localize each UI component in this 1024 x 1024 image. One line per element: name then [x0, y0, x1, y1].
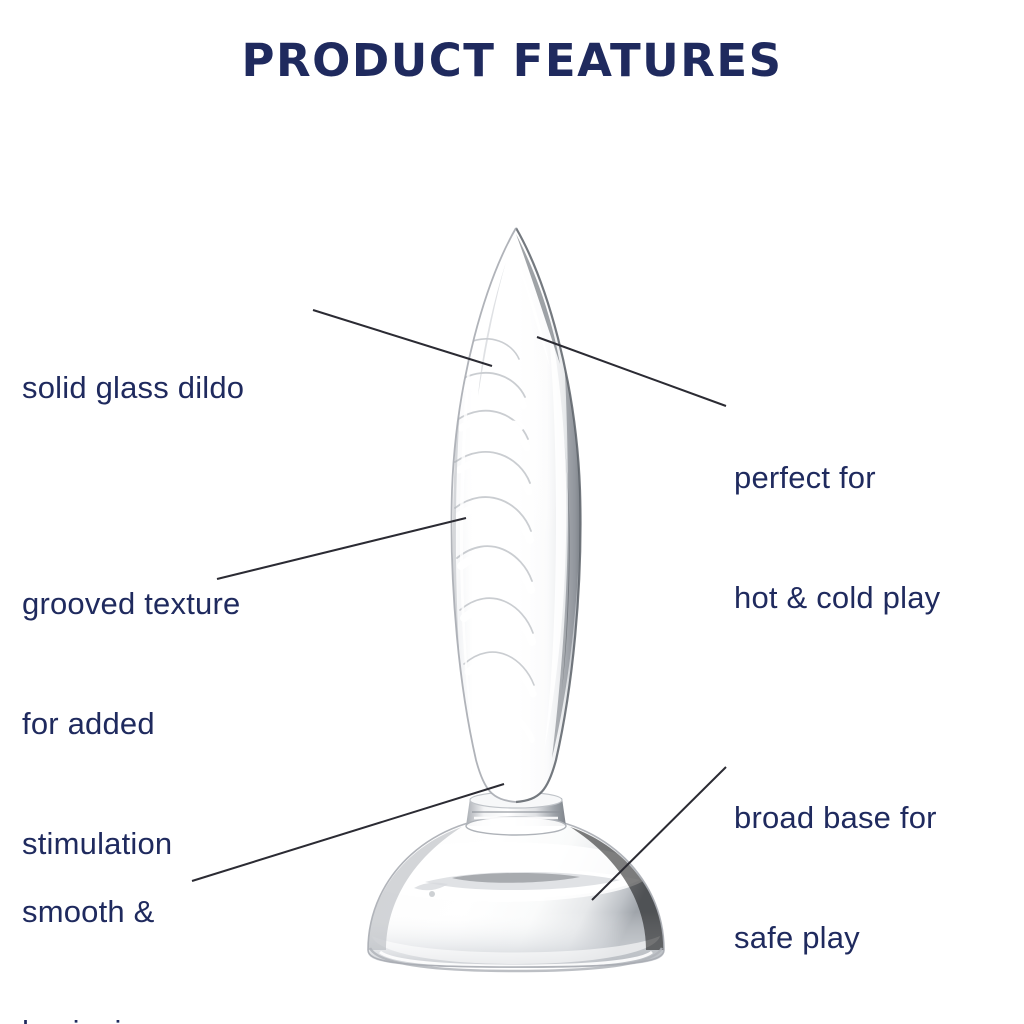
feature-label-hot-and-cold-play: perfect for hot & cold play — [734, 378, 940, 698]
product-shaft — [435, 228, 580, 802]
product-features-infographic: PRODUCT FEATURES — [0, 0, 1024, 1024]
feature-line: safe play — [734, 918, 937, 958]
feature-line: hygienic — [22, 1012, 263, 1024]
feature-line: broad base for — [734, 798, 937, 838]
feature-label-broad-base-safe-play: broad base for safe play — [734, 718, 937, 1024]
feature-line: smooth & — [22, 892, 263, 932]
feature-line: hot & cold play — [734, 578, 940, 618]
feature-line: grooved texture — [22, 584, 240, 624]
feature-line: solid glass dildo — [22, 368, 244, 408]
feature-label-smooth-hygienic-borosilicate-glass: smooth & hygienic borosilicate glass — [22, 812, 263, 1024]
product-base — [350, 816, 680, 972]
feature-line: perfect for — [734, 458, 940, 498]
feature-line: for added — [22, 704, 240, 744]
feature-label-solid-glass-dildo: solid glass dildo — [22, 288, 244, 488]
